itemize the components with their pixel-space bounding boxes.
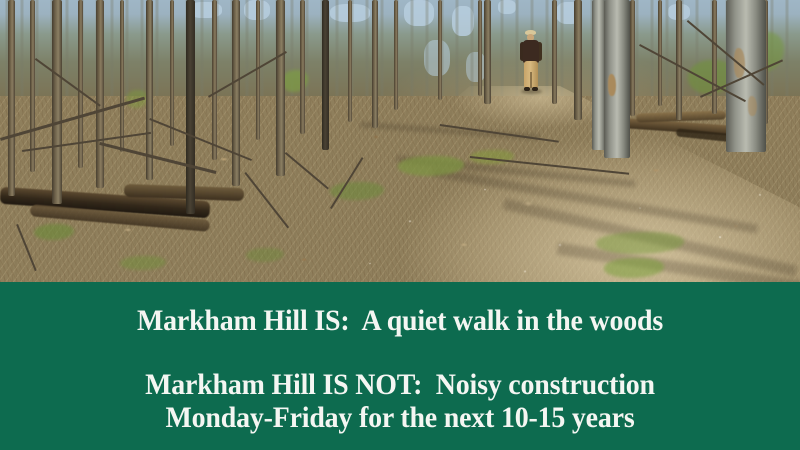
tree-trunk bbox=[348, 0, 352, 122]
tree-trunk bbox=[394, 0, 398, 110]
tree-trunk bbox=[300, 0, 305, 134]
caption-line-2: Markham Hill IS NOT: Noisy construction bbox=[28, 368, 772, 402]
tree-trunk bbox=[676, 0, 682, 120]
tree-trunk bbox=[52, 0, 62, 204]
tree-trunk bbox=[8, 0, 15, 196]
tree-trunk bbox=[630, 0, 635, 116]
caption-line-1: Markham Hill IS: A quiet walk in the woo… bbox=[28, 304, 772, 338]
tree-trunk bbox=[30, 0, 35, 172]
tree-trunk bbox=[552, 0, 557, 104]
tree-trunk bbox=[322, 0, 329, 150]
tree-trunk bbox=[212, 0, 217, 160]
tree-trunk bbox=[232, 0, 240, 186]
hiker-shoe bbox=[524, 87, 530, 91]
tree-trunk bbox=[478, 0, 482, 96]
caption-line-3: Monday-Friday for the next 10-15 years bbox=[28, 401, 772, 435]
screenshot-canvas: Markham Hill IS: A quiet walk in the woo… bbox=[0, 0, 800, 450]
tree-trunk bbox=[372, 0, 378, 128]
tree-trunk bbox=[484, 0, 491, 104]
tree-trunk bbox=[120, 0, 124, 152]
tree-trunk bbox=[438, 0, 442, 100]
tree-trunk bbox=[170, 0, 174, 146]
caption-band: Markham Hill IS: A quiet walk in the woo… bbox=[0, 282, 800, 450]
hiker-leg-gap bbox=[530, 72, 532, 88]
tree-trunk bbox=[276, 0, 285, 176]
bark-scar bbox=[748, 96, 757, 116]
bark-scar bbox=[608, 74, 616, 96]
hiker-shoe bbox=[532, 87, 538, 91]
tree-trunk bbox=[712, 0, 717, 114]
forest-trail-photo bbox=[0, 0, 800, 282]
hiker-on-trail bbox=[519, 30, 543, 92]
tree-trunk bbox=[96, 0, 104, 188]
tree-trunk bbox=[574, 0, 582, 120]
tree-trunk bbox=[186, 0, 195, 214]
hiker-torso bbox=[523, 40, 539, 63]
